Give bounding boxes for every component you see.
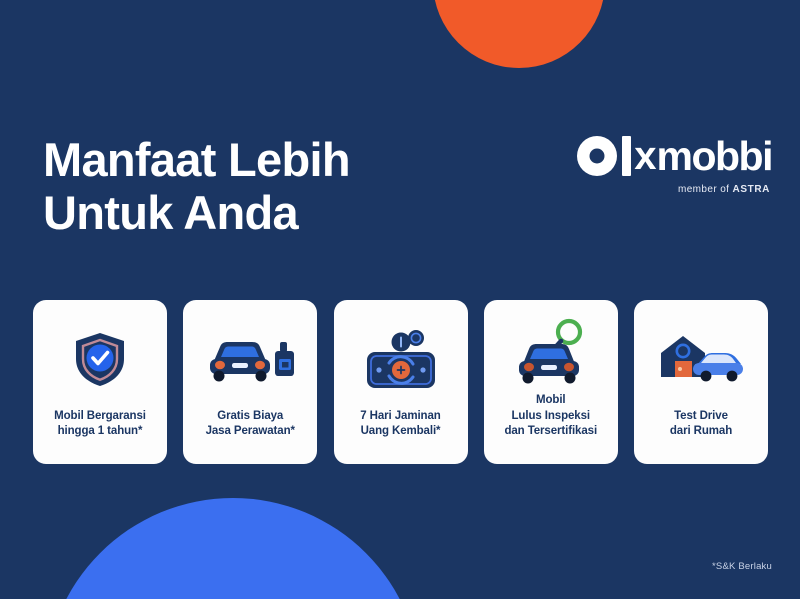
page-title: Manfaat Lebih Untuk Anda (43, 134, 350, 239)
promo-poster: Manfaat Lebih Untuk Anda x mobbi member … (0, 0, 800, 599)
car-oil-service-icon (189, 310, 311, 409)
benefit-card-label: Mobil Bergaransi hingga 1 tahun* (54, 409, 146, 452)
brand-logo: x mobbi member of ASTRA (577, 133, 772, 195)
money-back-icon (340, 310, 462, 409)
benefit-card-inspection[interactable]: Mobil Lulus Inspeksi dan Tersertifikasi (484, 300, 618, 464)
shield-check-icon (39, 310, 161, 409)
logo-x-letter: x (634, 136, 655, 176)
logo-member-brand: ASTRA (733, 184, 770, 195)
benefit-card-money-back[interactable]: 7 Hari Jaminan Uang Kembali* (334, 300, 468, 464)
car-inspection-icon (490, 310, 612, 393)
benefit-card-label: Gratis Biaya Jasa Perawatan* (206, 409, 295, 452)
logo-l-bar-icon (622, 136, 631, 176)
logo-member-prefix: member of (678, 184, 733, 195)
benefit-card-free-service[interactable]: Gratis Biaya Jasa Perawatan* (183, 300, 317, 464)
terms-footnote: *S&K Berlaku (712, 561, 772, 572)
benefit-card-label: Mobil Lulus Inspeksi dan Tersertifikasi (504, 393, 597, 452)
orange-circle-decoration (433, 0, 605, 68)
logo-o-icon (577, 136, 617, 176)
logo-member-line: member of ASTRA (577, 184, 772, 195)
logo-mobbi-text: mobbi (657, 136, 772, 176)
benefit-card-label: 7 Hari Jaminan Uang Kembali* (360, 409, 440, 452)
benefit-card-test-drive[interactable]: Test Drive dari Rumah (634, 300, 768, 464)
logo-wordmark: x mobbi (577, 133, 772, 179)
blue-circle-decoration (45, 498, 421, 599)
benefit-card-warranty[interactable]: Mobil Bergaransi hingga 1 tahun* (33, 300, 167, 464)
benefit-card-label: Test Drive dari Rumah (670, 409, 732, 452)
home-test-drive-icon (640, 310, 762, 409)
benefits-card-row: Mobil Bergaransi hingga 1 tahun* (33, 300, 768, 464)
